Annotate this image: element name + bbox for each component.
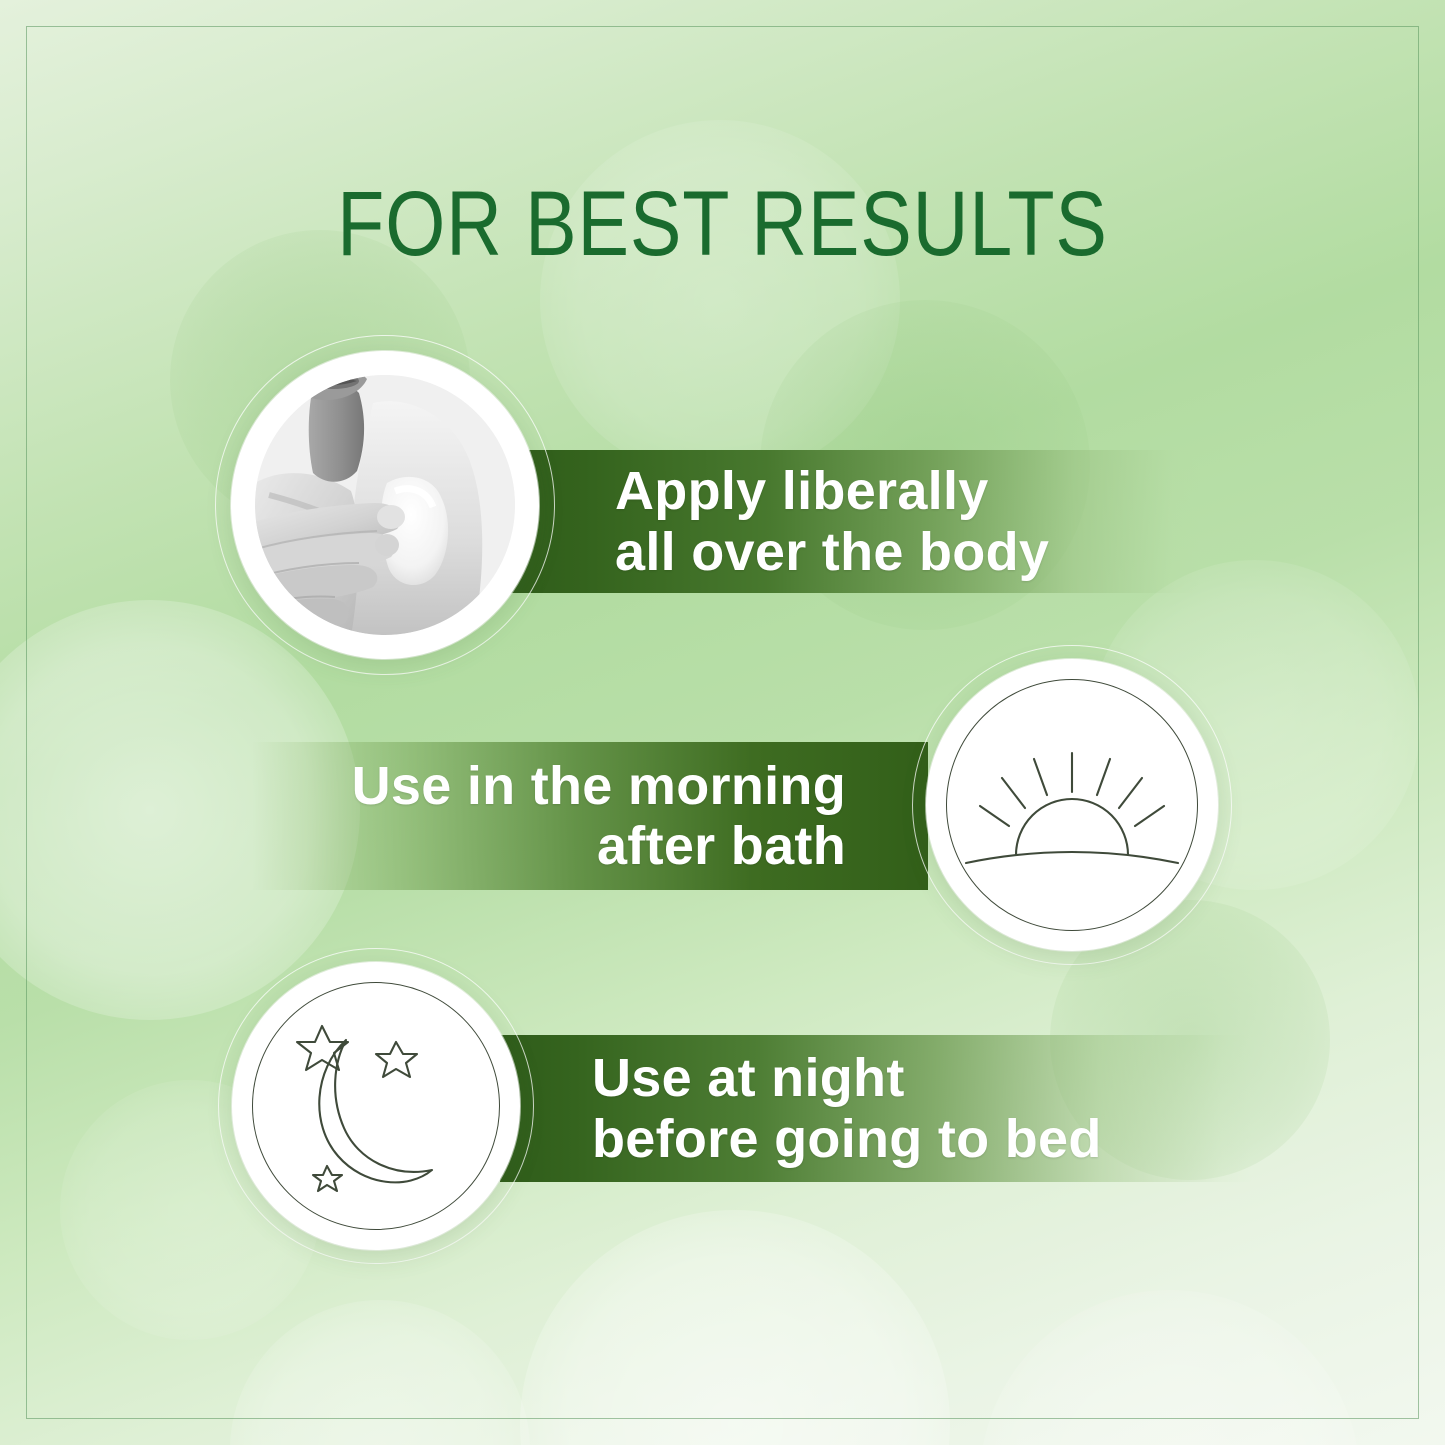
page-title: FOR BEST RESULTS (116, 178, 1330, 270)
bokeh-blob (520, 1210, 950, 1445)
bokeh-blob (980, 1290, 1360, 1445)
cream-application-photo (255, 375, 515, 635)
step-banner-night: Use at night before going to bed (500, 1035, 1252, 1182)
step-label-night: Use at night before going to bed (592, 1048, 1102, 1169)
step-label-morning: Use in the morning after bath (352, 756, 846, 877)
moon-stars-icon (218, 948, 534, 1264)
step-icon-morning (912, 645, 1232, 965)
step-banner-apply: Apply liberally all over the body (500, 450, 1200, 593)
step-banner-morning: Use in the morning after bath (252, 742, 928, 890)
step-icon-night (218, 948, 534, 1264)
step-icon-apply (215, 335, 555, 675)
bokeh-blob (230, 1300, 530, 1445)
cream-application-photo-art (255, 375, 515, 635)
step-label-apply: Apply liberally all over the body (615, 461, 1049, 582)
sunrise-icon (912, 645, 1232, 965)
infographic-canvas: FOR BEST RESULTS Apply liberally all ove… (0, 0, 1445, 1445)
